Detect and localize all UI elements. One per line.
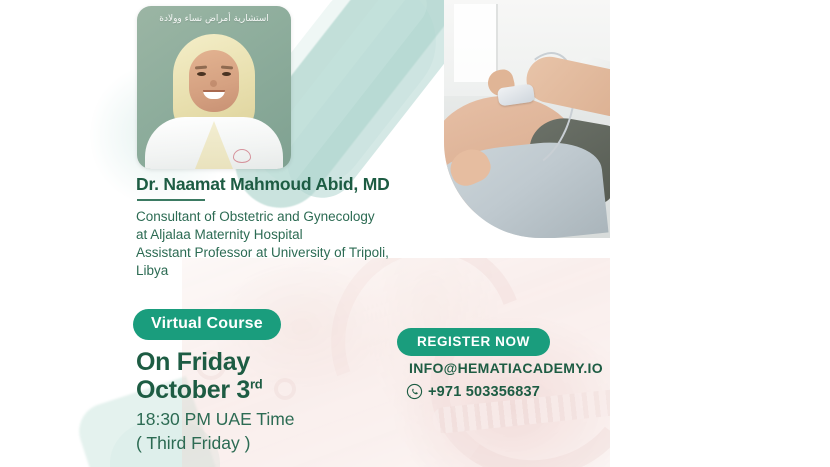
portrait-figure bbox=[137, 6, 291, 169]
name-divider bbox=[137, 199, 205, 201]
eye-left bbox=[197, 72, 206, 76]
course-promo-poster: استشارية أمراض نساء وولادة Dr. Naamat Ma… bbox=[0, 0, 830, 467]
course-date-text: October 3 bbox=[136, 376, 250, 404]
credential-line-3: Assistant Professor at University of Tri… bbox=[136, 244, 466, 262]
hospital-logo-icon bbox=[233, 149, 251, 163]
credential-line-4: Libya bbox=[136, 262, 466, 280]
doctor-credentials: Consultant of Obstetric and Gynecology a… bbox=[136, 208, 466, 280]
contact-phone-number: +971 503356837 bbox=[428, 384, 540, 400]
contact-phone-row[interactable]: +971 503356837 bbox=[406, 383, 540, 400]
ultrasound-cabinet bbox=[454, 4, 498, 82]
course-note-line: ( Third Friday ) bbox=[136, 433, 250, 454]
ultrasound-photo bbox=[444, 0, 610, 238]
credential-line-1: Consultant of Obstetric and Gynecology bbox=[136, 208, 466, 226]
register-now-button[interactable]: REGISTER NOW bbox=[397, 328, 550, 356]
virtual-course-badge: Virtual Course bbox=[133, 309, 281, 340]
eye-right bbox=[222, 72, 231, 76]
course-time-line: 18:30 PM UAE Time bbox=[136, 409, 295, 430]
doctor-name: Dr. Naamat Mahmoud Abid, MD bbox=[136, 174, 390, 195]
nose-shape bbox=[210, 80, 217, 87]
doctor-portrait-card: استشارية أمراض نساء وولادة bbox=[137, 6, 291, 169]
whatsapp-icon bbox=[406, 383, 423, 400]
course-date-line: October 3rd bbox=[136, 376, 262, 405]
contact-email[interactable]: INFO@HEMATIACADEMY.IO bbox=[409, 360, 603, 376]
course-day-line: On Friday bbox=[136, 348, 250, 377]
credential-line-2: at Aljalaa Maternity Hospital bbox=[136, 226, 466, 244]
course-date-ordinal: rd bbox=[250, 377, 262, 392]
portrait-arabic-caption: استشارية أمراض نساء وولادة bbox=[137, 14, 291, 24]
faded-photo-dot-1 bbox=[274, 378, 296, 400]
